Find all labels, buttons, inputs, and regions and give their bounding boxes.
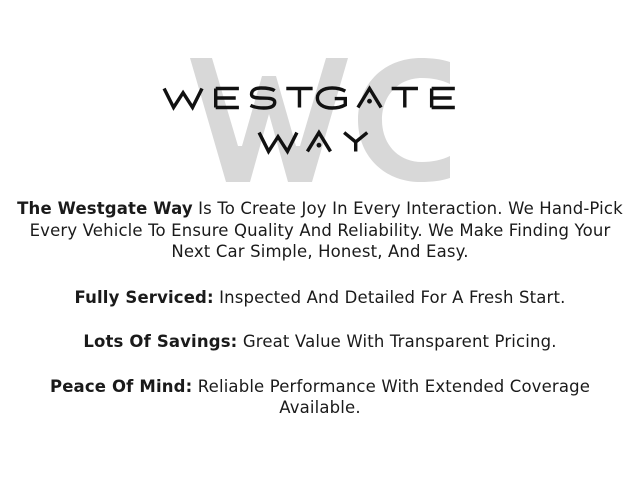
brand-logo xyxy=(0,46,640,186)
benefit-item-lots-of-savings: Lots Of Savings: Great Value With Transp… xyxy=(16,331,624,353)
benefit-body: Inspected And Detailed For A Fresh Start… xyxy=(214,288,566,307)
brand-secondary-text xyxy=(257,127,383,157)
benefit-body: Great Value With Transparent Pricing. xyxy=(237,332,556,351)
benefit-lead: Lots Of Savings: xyxy=(83,332,237,351)
benefit-lead: Peace Of Mind: xyxy=(50,377,192,396)
benefit-body: Reliable Performance With Extended Cover… xyxy=(192,377,590,418)
benefit-lead: Fully Serviced: xyxy=(75,288,214,307)
intro-paragraph: The Westgate Way Is To Create Joy In Eve… xyxy=(16,198,624,263)
intro-lead: The Westgate Way xyxy=(17,199,193,218)
benefit-item-peace-of-mind: Peace Of Mind: Reliable Performance With… xyxy=(16,376,624,419)
brand-wordmark xyxy=(0,46,640,186)
brand-primary-text xyxy=(162,81,478,115)
promo-panel: The Westgate Way Is To Create Joy In Eve… xyxy=(0,0,640,480)
benefit-item-fully-serviced: Fully Serviced: Inspected And Detailed F… xyxy=(16,287,624,309)
promo-copy: The Westgate Way Is To Create Joy In Eve… xyxy=(16,198,624,419)
